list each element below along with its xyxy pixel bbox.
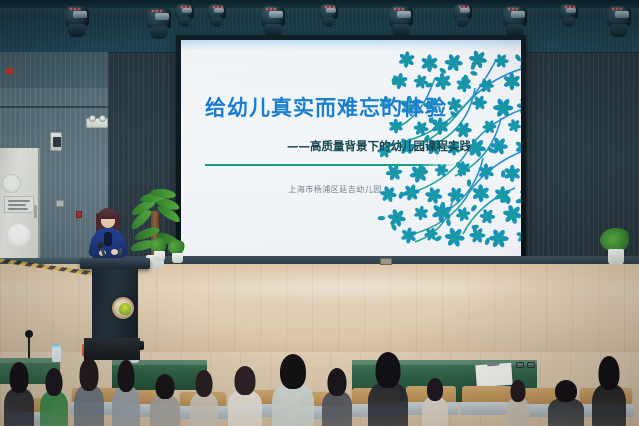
stage-light-icon xyxy=(604,4,634,38)
audience-shoulders xyxy=(592,384,626,426)
audience-member xyxy=(112,360,140,426)
door-sign xyxy=(4,196,34,213)
audience-head xyxy=(427,378,443,401)
audience-head xyxy=(555,380,577,402)
auditorium-seat[interactable] xyxy=(462,386,512,406)
wall-divider-line xyxy=(0,106,112,108)
eyeglasses-icon xyxy=(516,362,536,369)
floor-reflection xyxy=(150,266,550,306)
audience-head xyxy=(196,370,213,397)
audience-shoulders xyxy=(4,388,34,426)
circle-decal-icon xyxy=(8,224,30,246)
microphone-stand xyxy=(28,336,30,358)
stage-light-icon xyxy=(258,4,288,38)
podium xyxy=(84,258,146,350)
water-tumbler xyxy=(52,344,61,362)
audience-member xyxy=(592,356,626,426)
audience-shoulders xyxy=(40,391,68,426)
audience-shoulders xyxy=(190,392,218,426)
slide-divider-rule xyxy=(205,164,457,166)
podium-body xyxy=(92,269,138,343)
tree-logo-icon xyxy=(119,303,131,315)
audience-head xyxy=(46,368,63,396)
projection-screen: 给幼儿真实而难忘的体验 ——高质量背景下的幼儿园课程实践 上海市杨浦区延吉幼儿园 xyxy=(181,40,521,256)
audience-head xyxy=(235,366,256,395)
audience-member xyxy=(40,368,68,426)
audience-head xyxy=(280,354,306,389)
floor-speaker xyxy=(84,338,140,360)
slide-subtitle: ——高质量背景下的幼儿园课程实践 xyxy=(209,138,471,154)
audience-shoulders xyxy=(506,398,530,426)
audience-head xyxy=(376,352,401,388)
floor-outlet xyxy=(380,258,392,265)
stage-light-icon xyxy=(500,4,530,38)
audience-shoulders xyxy=(228,390,262,426)
stage-light-icon xyxy=(144,6,174,40)
fire-alarm-button[interactable] xyxy=(76,211,82,218)
presentation-hall-photo: 给幼儿真实而难忘的体验 ——高质量背景下的幼儿园课程实践 上海市杨浦区延吉幼儿园 xyxy=(0,0,639,426)
audience-head xyxy=(80,358,99,391)
podium-top-surface xyxy=(80,258,150,269)
audience-member xyxy=(548,380,584,426)
audience-head xyxy=(10,362,29,393)
audience-shoulders xyxy=(272,383,314,426)
audience-member xyxy=(150,374,180,426)
audience-shoulders xyxy=(150,395,180,426)
exit-sign xyxy=(5,68,14,74)
wall-control-box[interactable] xyxy=(50,132,62,151)
emergency-light xyxy=(86,118,108,128)
audience-head xyxy=(118,360,135,392)
stage-light-icon xyxy=(62,4,92,38)
door-handle[interactable] xyxy=(34,205,37,218)
stage-light-icon xyxy=(174,2,196,28)
audience-head xyxy=(511,380,526,402)
audience-member xyxy=(422,378,448,426)
audience-shoulders xyxy=(322,391,352,426)
podium-emblem-icon xyxy=(112,297,134,319)
audience-member xyxy=(322,368,352,426)
stage-light-icon xyxy=(558,2,580,28)
potted-plant-small-1 xyxy=(150,238,168,262)
audience-member xyxy=(190,370,218,426)
potted-plant-small-2 xyxy=(168,240,186,264)
stage-light-icon xyxy=(452,2,474,28)
audience-shoulders xyxy=(548,398,584,426)
potted-plant-right xyxy=(600,228,632,268)
wall-socket xyxy=(56,200,64,207)
audience-head xyxy=(599,356,620,390)
leaf-decal-icon xyxy=(2,174,21,193)
projection-screen-frame: 给幼儿真实而难忘的体验 ——高质量背景下的幼儿园课程实践 上海市杨浦区延吉幼儿园 xyxy=(176,35,526,261)
audience-head xyxy=(328,368,347,396)
audience-member xyxy=(74,358,104,426)
audience-member xyxy=(228,366,262,426)
audience-member xyxy=(4,362,34,426)
audience-member xyxy=(368,352,408,426)
audience-head xyxy=(156,374,175,399)
stage-light-icon xyxy=(386,4,416,38)
audience-shoulders xyxy=(422,397,448,426)
audience-member xyxy=(272,354,314,426)
stage-light-icon xyxy=(318,2,340,28)
audience-shoulders xyxy=(368,382,408,426)
slide-organization: 上海市杨浦区延吉幼儿园 xyxy=(209,184,461,195)
audience-shoulders xyxy=(112,386,140,426)
audience-member xyxy=(506,380,530,426)
slide-title: 给幼儿真实而难忘的体验 xyxy=(195,92,457,122)
stage-light-icon xyxy=(206,2,228,28)
audience-shoulders xyxy=(74,385,104,426)
